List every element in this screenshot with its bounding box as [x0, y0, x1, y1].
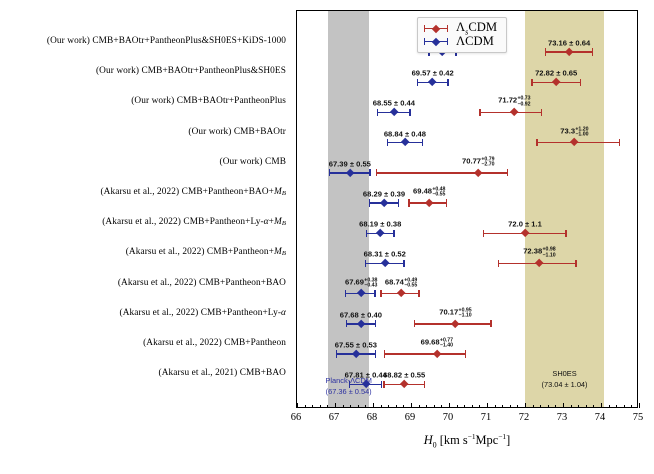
axis-minor-tick — [555, 405, 556, 408]
row-label: (Our work) CMB+BAOtr+PantheonPlus — [131, 96, 286, 106]
axis-tick-label: 74 — [595, 412, 605, 423]
axis-minor-tick — [358, 405, 359, 408]
row-label: (Our work) CMB+BAOtr — [188, 127, 286, 137]
axis-minor-tick — [593, 405, 594, 408]
axis-minor-tick — [365, 405, 366, 408]
plot-area: 69.83 ± 0.3773.16 ± 0.6469.57 ± 0.4272.8… — [296, 10, 638, 408]
axis-minor-tick — [388, 405, 389, 408]
axis-minor-tick — [419, 405, 420, 408]
axis-minor-tick — [472, 405, 473, 408]
axis-minor-tick — [609, 405, 610, 408]
value-label: 68.84 ± 0.48 — [384, 130, 426, 138]
axis-minor-tick — [457, 405, 458, 408]
value-label: 70.17+0.95−1.10 — [439, 308, 471, 319]
row-label: (Akarsu et al., 2022) CMB+Pantheon+BAO+M… — [100, 187, 286, 197]
sh0es-band-label: SH0ES(73.04 ± 1.04) — [542, 369, 588, 390]
axis-minor-tick — [601, 405, 602, 408]
axis-tick-label: 75 — [633, 412, 643, 423]
planck-band-label: Planck-ΛCDM(67.36 ± 0.54) — [325, 376, 371, 397]
value-label: 73.3+1.20−1.00 — [560, 127, 588, 138]
row-label: (Akarsu et al., 2022) CMB+Pantheon+Ly-α — [120, 308, 286, 318]
value-label: 73.16 ± 0.64 — [548, 39, 590, 47]
axis-minor-tick — [586, 405, 587, 408]
axis-tick-label: 72 — [519, 412, 529, 423]
legend: ΛsCDM ΛCDM — [417, 17, 507, 53]
axis-minor-tick — [495, 405, 496, 408]
value-label: 68.82 ± 0.55 — [383, 372, 425, 380]
axis-tick-label: 71 — [481, 412, 491, 423]
value-label: 67.55 ± 0.53 — [335, 341, 377, 349]
axis-minor-tick — [563, 405, 564, 408]
value-label: 70.77+0.79−2.70 — [462, 157, 494, 168]
axis-minor-tick — [434, 405, 435, 408]
row-label: (Our work) CMB — [220, 157, 286, 167]
value-label: 68.29 ± 0.39 — [363, 190, 405, 198]
axis-minor-tick — [396, 405, 397, 408]
value-label: 68.31 ± 0.52 — [364, 251, 406, 259]
axis-minor-tick — [479, 405, 480, 408]
axis-minor-tick — [343, 405, 344, 408]
value-label: 68.55 ± 0.44 — [373, 100, 415, 108]
row-label: (Akarsu et al., 2022) CMB+Pantheon+Ly-α+… — [102, 217, 286, 227]
axis-tick-label: 70 — [443, 412, 453, 423]
lscdm-marker-icon — [423, 24, 449, 33]
axis-minor-tick — [449, 405, 450, 408]
axis-minor-tick — [502, 405, 503, 408]
axis-minor-tick — [624, 405, 625, 408]
hubble-constant-whisker-plot: (Our work) CMB+BAOtr+PantheonPlus&SH0ES+… — [0, 0, 654, 474]
axis-minor-tick — [525, 405, 526, 408]
value-label: 67.69+0.38−0.43 — [345, 278, 377, 289]
axis-minor-tick — [381, 405, 382, 408]
axis-minor-tick — [411, 405, 412, 408]
value-label: 72.38+0.98−1.10 — [523, 248, 555, 259]
value-label: 69.57 ± 0.42 — [412, 70, 454, 78]
value-label: 69.68+0.77−1.40 — [421, 338, 453, 349]
legend-item-lcdm: ΛCDM — [423, 35, 497, 48]
axis-minor-tick — [297, 405, 298, 408]
axis-tick-label: 73 — [557, 412, 567, 423]
row-label: (Our work) CMB+BAOtr+PantheonPlus&SH0ES — [96, 66, 286, 76]
axis-tick-label: 66 — [291, 412, 301, 423]
value-label: 72.82 ± 0.65 — [535, 70, 577, 78]
axis-minor-tick — [426, 405, 427, 408]
axis-minor-tick — [616, 405, 617, 408]
row-label: (Akarsu et al., 2022) CMB+Pantheon+BAO — [118, 278, 286, 288]
row-label: (Akarsu et al., 2021) CMB+BAO — [159, 368, 286, 378]
value-label: 68.74+0.49−0.55 — [385, 278, 417, 289]
axis-minor-tick — [335, 405, 336, 408]
row-label: (Akarsu et al., 2022) CMB+Pantheon+MB — [126, 247, 286, 257]
axis-minor-tick — [320, 405, 321, 408]
row-label-column: (Our work) CMB+BAOtr+PantheonPlus&SH0ES+… — [0, 0, 293, 474]
axis-minor-tick — [350, 405, 351, 408]
axis-minor-tick — [571, 405, 572, 408]
axis-minor-tick — [464, 405, 465, 408]
axis-minor-tick — [441, 405, 442, 408]
lcdm-marker-icon — [423, 37, 449, 46]
row-label: (Our work) CMB+BAOtr+PantheonPlus&SH0ES+… — [47, 36, 286, 46]
axis-minor-tick — [540, 405, 541, 408]
axis-minor-tick — [305, 405, 306, 408]
axis-tick-label: 69 — [405, 412, 415, 423]
axis-tick-label: 67 — [329, 412, 339, 423]
axis-minor-tick — [517, 405, 518, 408]
value-label: 67.39 ± 0.55 — [329, 160, 371, 168]
axis-minor-tick — [578, 405, 579, 408]
legend-label-lcdm: ΛCDM — [456, 34, 494, 49]
axis-minor-tick — [327, 405, 328, 408]
value-label: 68.19 ± 0.38 — [359, 221, 401, 229]
x-axis-title: H0 [km s−1Mpc−1] — [296, 432, 638, 450]
axis-minor-tick — [487, 405, 488, 408]
axis-minor-tick — [548, 405, 549, 408]
axis-minor-tick — [631, 405, 632, 408]
axis-minor-tick — [312, 405, 313, 408]
axis-minor-tick — [510, 405, 511, 408]
axis-minor-tick — [403, 405, 404, 408]
axis-tick — [639, 403, 640, 409]
value-label: 67.68 ± 0.40 — [340, 311, 382, 319]
value-label: 71.72+0.73−0.92 — [498, 97, 530, 108]
axis-tick-label: 68 — [367, 412, 377, 423]
axis-minor-tick — [373, 405, 374, 408]
value-label: 72.0 ± 1.1 — [508, 221, 542, 229]
axis-minor-tick — [533, 405, 534, 408]
row-label: (Akarsu et al., 2022) CMB+Pantheon — [143, 338, 286, 348]
value-label: 69.48+0.48−0.55 — [413, 187, 445, 198]
